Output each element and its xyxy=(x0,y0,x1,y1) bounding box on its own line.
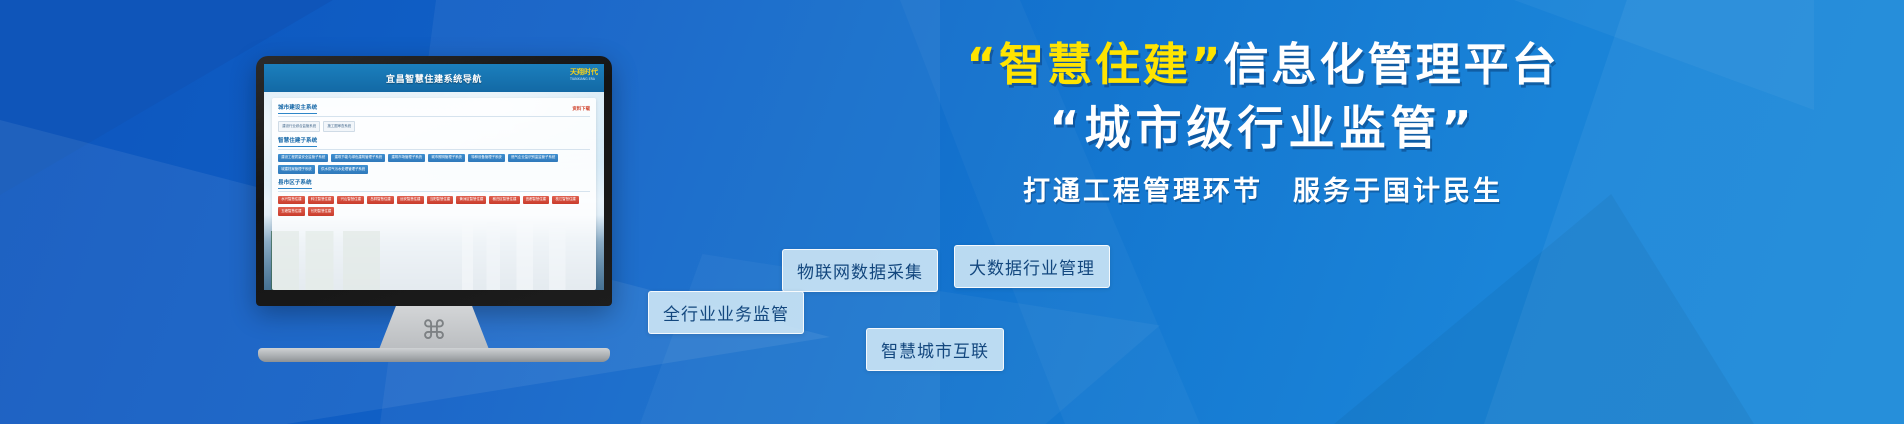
nav-item-chip[interactable]: 五峰智慧住建 xyxy=(278,207,305,216)
headline-quote-close: ” xyxy=(1191,38,1224,91)
nav-section-download-link[interactable]: 资料下载 xyxy=(572,106,590,112)
headline-line-3: 打通工程管理环节 服务于国计民生 xyxy=(648,169,1878,208)
nav-section-header: 城市建设主系统资料下载 xyxy=(278,103,590,117)
monitor-screen: 宜昌智慧住建系统导航 天翔时代 TIANXIANG ERA 城市建设主系统资料下… xyxy=(264,64,604,290)
screen-header-title: 宜昌智慧住建系统导航 xyxy=(386,72,482,85)
nav-section-title: 城市建设主系统 xyxy=(278,103,317,114)
headline-block: “智慧住建”信息化管理平台 “城市级行业监管” 打通工程管理环节 服务于国计民生 xyxy=(648,38,1878,208)
nav-item-chip[interactable]: 长阳智慧住建 xyxy=(308,207,335,216)
nav-item-chip[interactable]: 黄洲区智慧住建 xyxy=(456,196,486,205)
nav-item-chip[interactable]: 宜都智慧住建 xyxy=(523,196,550,205)
screen-header-logo: 天翔时代 TIANXIANG ERA xyxy=(570,68,598,82)
feature-tag-group: 物联网数据采集 全行业业务监管 智慧城市互联 大数据行业管理 xyxy=(648,286,1878,406)
nav-item-chip[interactable]: 科江智慧住建 xyxy=(308,196,335,205)
nav-item-chip[interactable]: 建设工程质量安全监管子系统 xyxy=(278,154,328,163)
screen-body: 城市建设主系统资料下载建设行业综合监管系统施工图审查系统智慧住建子系统建设工程质… xyxy=(264,92,604,290)
nav-item-chip[interactable]: 建筑节能与绿色建筑管理子系统 xyxy=(331,154,385,163)
headline-line-1-rest: 信息化管理平台 xyxy=(1224,38,1560,91)
headline-line-2: “城市级行业监管” xyxy=(648,101,1878,155)
nav-section-items: 水兴智慧住建科江智慧住建兴山智慧住建岛祥智慧住建远安智慧住建当阳智慧住建黄洲区智… xyxy=(278,196,590,216)
nav-item-chip[interactable]: 供水供气污水处理管理子系统 xyxy=(318,165,368,174)
nav-section-header: 县市区子系统 xyxy=(278,178,590,192)
logo-sub-text: TIANXIANG ERA xyxy=(570,77,598,82)
promo-banner: 宜昌智慧住建系统导航 天翔时代 TIANXIANG ERA 城市建设主系统资料下… xyxy=(0,0,1904,424)
nav-item-chip[interactable]: 建设行业综合监管系统 xyxy=(278,121,320,132)
nav-item-chip[interactable]: 秭归区智慧住建 xyxy=(489,196,519,205)
nav-item-chip[interactable]: 城建档案管理子系统 xyxy=(278,165,315,174)
nav-item-chip[interactable]: 施工图审查系统 xyxy=(323,121,355,132)
nav-section-title: 县市区子系统 xyxy=(278,178,312,189)
nav-item-chip[interactable]: 远安智慧住建 xyxy=(397,196,424,205)
feature-tag-iot-data[interactable]: 物联网数据采集 xyxy=(782,249,938,292)
nav-item-chip[interactable]: 特种设备管理子系统 xyxy=(468,154,505,163)
nav-item-chip[interactable]: 建筑市场管理子系统 xyxy=(388,154,425,163)
nav-item-chip[interactable]: 岛祥智慧住建 xyxy=(367,196,394,205)
nav-item-chip[interactable]: 城市照明管理子系统 xyxy=(428,154,465,163)
feature-tag-smart-city[interactable]: 智慧城市互联 xyxy=(866,328,1004,371)
headline-quote-open: “ xyxy=(966,38,999,91)
feature-tag-bigdata-management[interactable]: 大数据行业管理 xyxy=(954,245,1110,288)
nav-section-header: 智慧住建子系统 xyxy=(278,136,590,150)
logo-mark-text: 天翔时代 xyxy=(570,68,598,77)
monitor-base xyxy=(258,348,610,362)
screen-header: 宜昌智慧住建系统导航 天翔时代 TIANXIANG ERA xyxy=(264,64,604,92)
feature-tag-industry-supervision[interactable]: 全行业业务监管 xyxy=(648,291,804,334)
nav-item-chip[interactable]: 当阳智慧住建 xyxy=(427,196,454,205)
apple-logo-icon: ⌘ xyxy=(421,318,447,344)
nav-item-chip[interactable]: 枝江智慧住建 xyxy=(552,196,579,205)
monitor-mockup: 宜昌智慧住建系统导航 天翔时代 TIANXIANG ERA 城市建设主系统资料下… xyxy=(256,56,612,306)
nav-section-items: 建设行业综合监管系统施工图审查系统 xyxy=(278,121,590,132)
nav-section-items: 建设工程质量安全监管子系统建筑节能与绿色建筑管理子系统建筑市场管理子系统城市照明… xyxy=(278,154,590,174)
headline-line-1: “智慧住建”信息化管理平台 xyxy=(648,38,1878,91)
nav-item-chip[interactable]: 水兴智慧住建 xyxy=(278,196,305,205)
nav-item-chip[interactable]: 燃气企业监识别监监管子系统 xyxy=(508,154,558,163)
nav-panel: 城市建设主系统资料下载建设行业综合监管系统施工图审查系统智慧住建子系统建设工程质… xyxy=(272,98,596,290)
headline-highlight: 智慧住建 xyxy=(999,38,1191,91)
monitor-bezel: 宜昌智慧住建系统导航 天翔时代 TIANXIANG ERA 城市建设主系统资料下… xyxy=(256,56,612,306)
nav-section-title: 智慧住建子系统 xyxy=(278,136,317,147)
nav-item-chip[interactable]: 兴山智慧住建 xyxy=(337,196,364,205)
